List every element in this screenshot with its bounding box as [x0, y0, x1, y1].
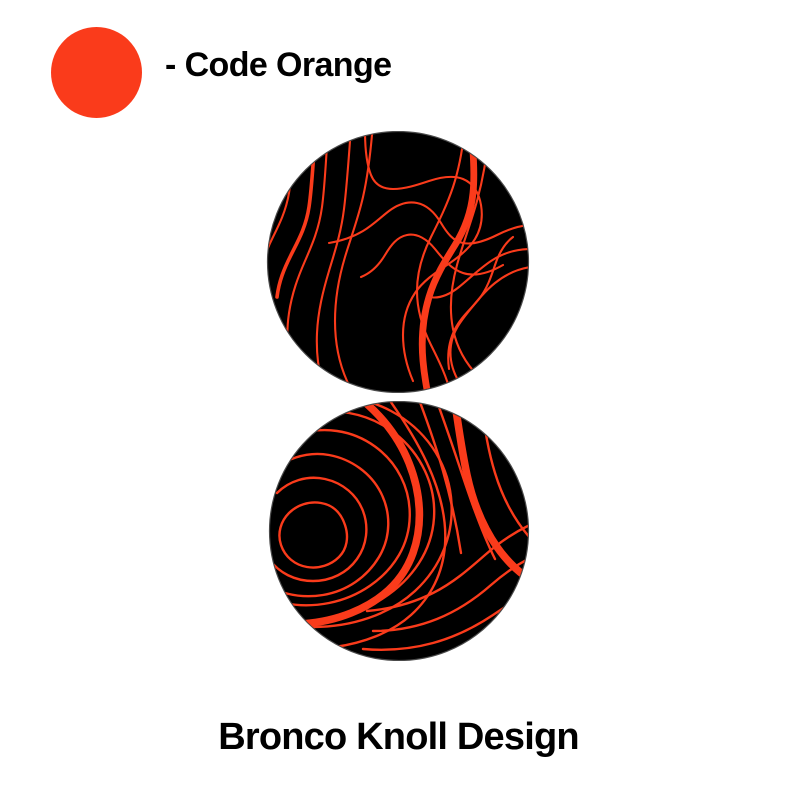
- color-legend-label: - Code Orange: [165, 48, 391, 82]
- color-legend: - Code Orange: [51, 27, 451, 119]
- topo-disc-lower: [267, 401, 531, 661]
- code-orange-swatch: [51, 27, 142, 118]
- brand-wordmark: Bronco Knoll Design: [0, 718, 797, 756]
- topo-disc-upper: [265, 131, 531, 393]
- design-canvas: - Code Orange: [0, 0, 797, 797]
